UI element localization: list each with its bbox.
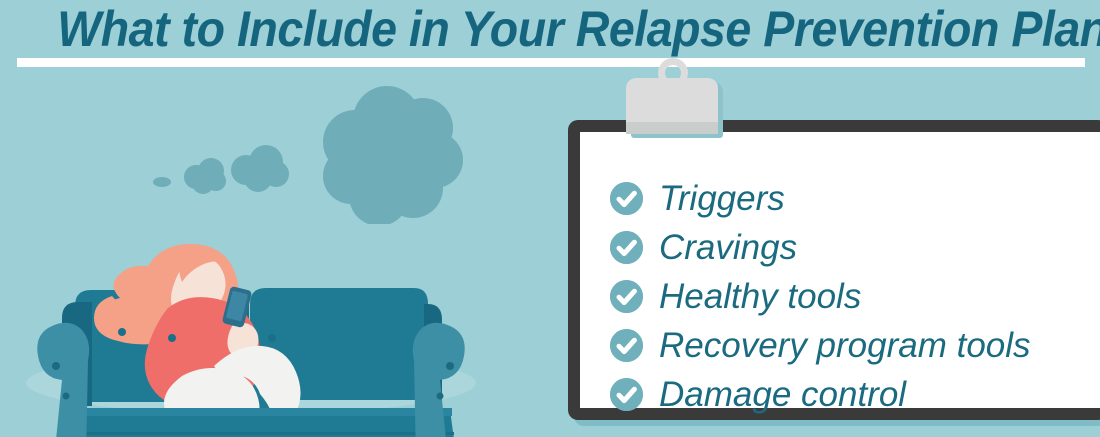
clipboard-clip-ring-icon [658, 58, 688, 88]
checklist-item-label: Cravings [659, 230, 797, 266]
check-circle-icon[interactable] [610, 182, 643, 215]
checklist-item-label: Recovery program tools [659, 328, 1031, 364]
clipboard-clip-strip [626, 122, 718, 134]
couch-illustration [0, 80, 520, 437]
checklist-item-label: Triggers [659, 181, 785, 217]
checklist-item[interactable]: Healthy tools [610, 272, 1100, 321]
checklist-item[interactable]: Recovery program tools [610, 321, 1100, 370]
checklist-item-label: Damage control [659, 377, 906, 413]
checklist-item[interactable]: Damage control [610, 370, 1100, 419]
page-title: What to Include in Your Relapse Preventi… [57, 1, 1048, 57]
clipboard: Triggers Cravings [568, 120, 1100, 422]
check-circle-icon[interactable] [610, 329, 643, 362]
checklist-item-label: Healthy tools [659, 279, 861, 315]
check-circle-icon[interactable] [610, 378, 643, 411]
clipboard-frame: Triggers Cravings [568, 120, 1100, 420]
checklist-item[interactable]: Triggers [610, 174, 1100, 223]
couch-seat [66, 408, 456, 437]
check-circle-icon[interactable] [610, 231, 643, 264]
checklist-item[interactable]: Cravings [610, 223, 1100, 272]
check-circle-icon[interactable] [610, 280, 643, 313]
clipboard-paper: Triggers Cravings [580, 132, 1100, 408]
infographic-banner: What to Include in Your Relapse Preventi… [0, 0, 1100, 437]
title-underline-rule [17, 58, 1085, 67]
header-band: What to Include in Your Relapse Preventi… [0, 0, 1100, 82]
relapse-prevention-checklist: Triggers Cravings [610, 174, 1100, 419]
